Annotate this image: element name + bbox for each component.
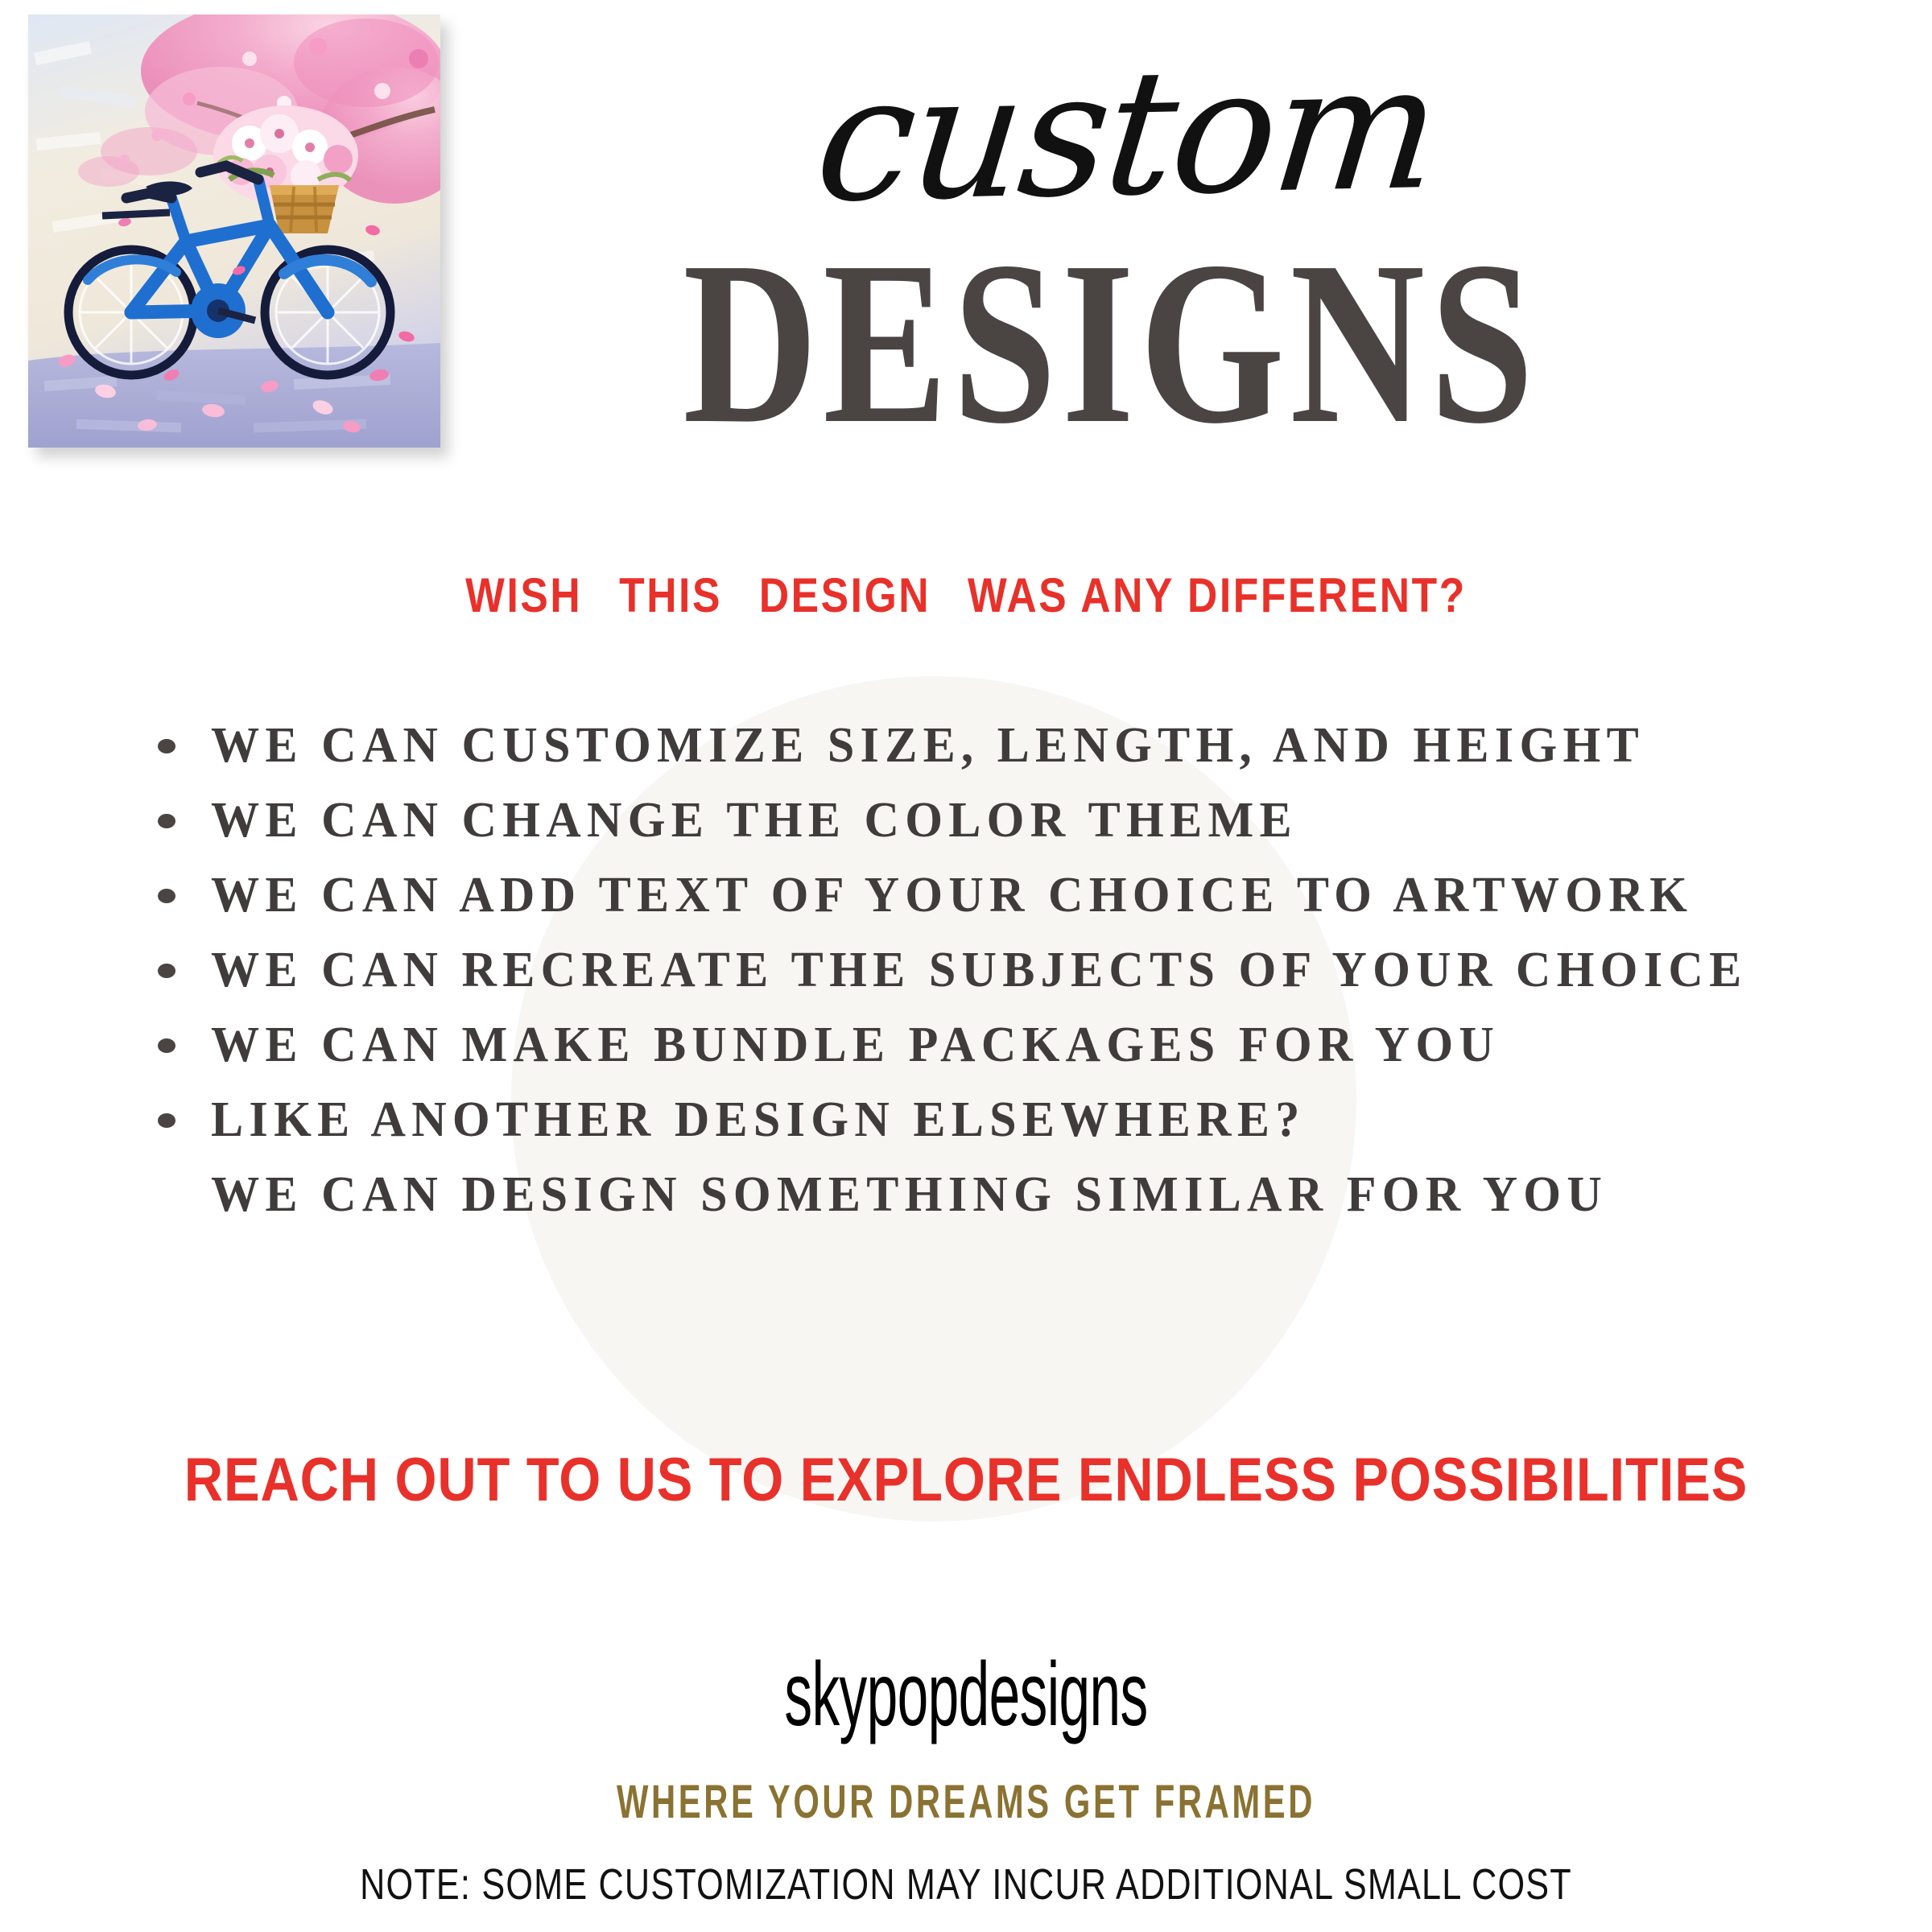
list-item-label: WE CAN ADD TEXT OF YOUR CHOICE TO ARTWOR… — [211, 867, 1693, 924]
bullet-icon — [158, 1113, 175, 1128]
artwork-thumbnail[interactable] — [28, 14, 440, 448]
bicycle-blossom-painting-icon — [28, 14, 440, 448]
bullet-icon — [158, 964, 175, 978]
subtitle-word-this: THIS — [619, 568, 722, 622]
brand-logo-text: skypopdesigns — [367, 1642, 1565, 1746]
list-item-label: WE CAN CHANGE THE COLOR THEME — [211, 792, 1298, 849]
page-title: DESIGNS — [480, 234, 1742, 452]
footnote-text: NOTE: SOME CUSTOMIZATION MAY INCUR ADDIT… — [193, 1860, 1739, 1909]
subtitle-word-wish: WISH — [465, 568, 582, 622]
bullet-icon — [158, 739, 175, 753]
list-item-label: WE CAN RECREATE THE SUBJECTS OF YOUR CHO… — [211, 942, 1747, 999]
list-item-continuation: WE CAN DESIGN SOMETHING SIMILAR FOR YOU — [0, 1158, 1932, 1232]
bullet-icon — [158, 1038, 175, 1053]
list-item-label: WE CAN DESIGN SOMETHING SIMILAR FOR YOU — [211, 1166, 1608, 1224]
subtitle-tail: WAS ANY DIFFERENT? — [968, 568, 1467, 622]
list-item-label: WE CAN CUSTOMIZE SIZE, LENGTH, AND HEIGH… — [211, 717, 1645, 774]
list-item: WE CAN CHANGE THE COLOR THEME — [0, 783, 1932, 858]
list-item-label: WE CAN MAKE BUNDLE PACKAGES FOR YOU — [211, 1017, 1500, 1074]
headline-block: custom DESIGNS — [322, 32, 1900, 452]
list-item: WE CAN MAKE BUNDLE PACKAGES FOR YOU — [0, 1008, 1932, 1083]
bullet-icon — [158, 889, 175, 903]
list-item: WE CAN ADD TEXT OF YOUR CHOICE TO ARTWOR… — [0, 858, 1932, 933]
call-to-action-text: REACH OUT TO US TO EXPLORE ENDLESS POSSI… — [116, 1445, 1816, 1515]
brand-tagline: WHERE YOUR DREAMS GET FRAMED — [270, 1775, 1662, 1829]
list-item-label: LIKE ANOTHER DESIGN ELSEWHERE? — [211, 1092, 1306, 1149]
list-item: LIKE ANOTHER DESIGN ELSEWHERE? — [0, 1083, 1932, 1158]
subtitle-word-design: DESIGN — [759, 568, 931, 622]
bullet-icon — [158, 814, 175, 828]
page-title-script: custom — [344, 31, 1910, 236]
list-item: WE CAN CUSTOMIZE SIZE, LENGTH, AND HEIGH… — [0, 708, 1932, 783]
list-item: WE CAN RECREATE THE SUBJECTS OF YOUR CHO… — [0, 933, 1932, 1008]
feature-list: WE CAN CUSTOMIZE SIZE, LENGTH, AND HEIGH… — [0, 708, 1932, 1232]
subtitle-question: WISH THIS DESIGN WAS ANY DIFFERENT? — [135, 568, 1797, 623]
